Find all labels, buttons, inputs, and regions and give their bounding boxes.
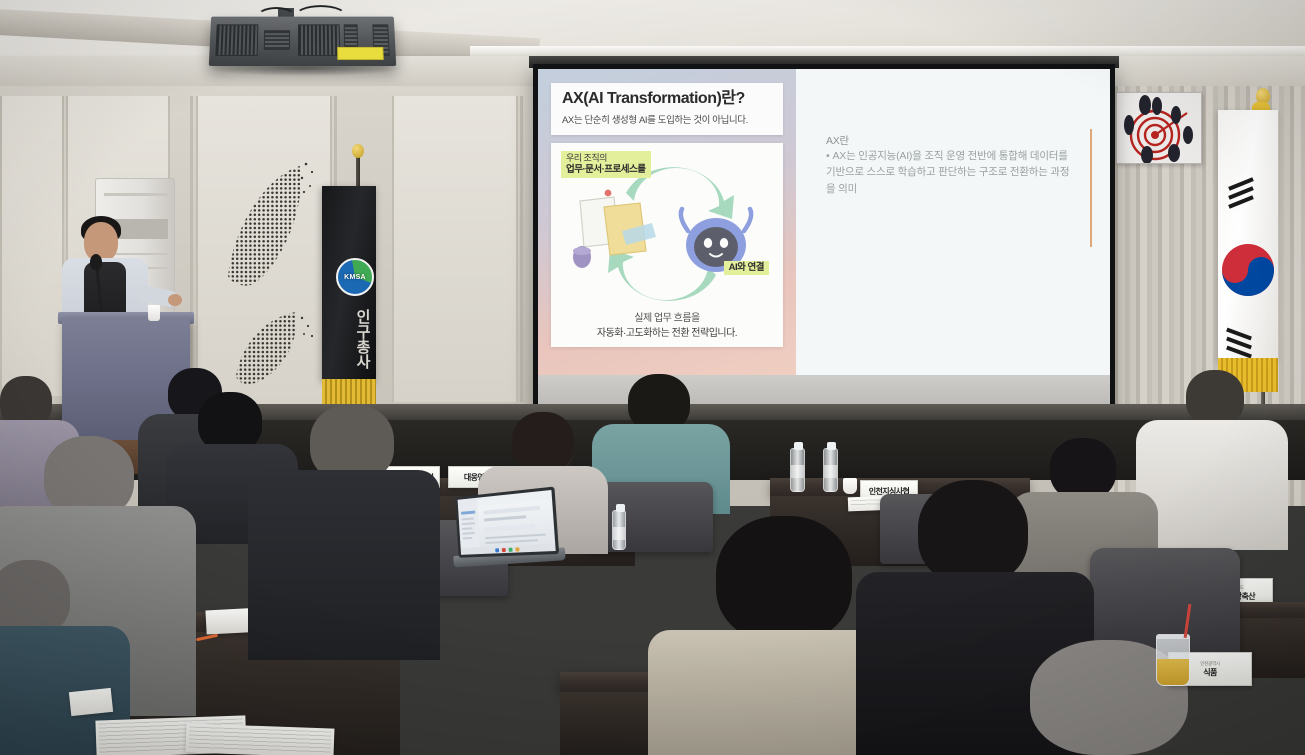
water-bottle <box>823 448 838 492</box>
dotted-leaf-art <box>214 158 324 408</box>
bullet-text: AX는 인공지능(AI)을 조직 운영 전반에 통합해 데이터를 기반으로 스스… <box>826 150 1069 195</box>
podium-cup <box>148 305 160 321</box>
projector-warning-label <box>337 47 384 60</box>
chip-top-line2: 업무·문서·프로세스를 <box>566 164 646 177</box>
kmsa-emblem-text: KMSA <box>344 274 366 281</box>
chip-top-line1: 우리 조직의 <box>566 153 607 163</box>
org-flag-text: 인구총사 <box>330 300 370 378</box>
caption-line1: 실제 업무 흐름을 <box>551 311 783 326</box>
slide-accent-line <box>1090 129 1092 247</box>
microphone-head <box>90 254 102 270</box>
handout <box>186 723 335 755</box>
namecard-name: 식품 <box>1203 667 1217 678</box>
paper-cup <box>843 478 857 494</box>
korean-flag <box>1218 110 1278 360</box>
wall-panel <box>0 96 64 396</box>
scene-root: KMSA 인구총사 AX(AI Transformation)란? AX는 단순… <box>0 0 1305 755</box>
org-flag-finial <box>352 144 364 158</box>
laptop-app-sidebar <box>458 498 481 555</box>
diagram-chip-top: 우리 조직의 업무·문서·프로세스를 <box>561 151 651 178</box>
target-bullseye-poster <box>1116 92 1202 164</box>
slide-diagram: 우리 조직의 업무·문서·프로세스를 AI와 연결 실제 업무 흐름을 자동화·… <box>551 143 783 347</box>
presentation-slide: AX(AI Transformation)란? AX는 단순히 생성형 AI를 … <box>538 69 1110 385</box>
bullet-marker: • <box>826 150 829 162</box>
handout <box>69 688 113 716</box>
water-bottle <box>612 510 626 550</box>
slide-right-panel: AX란 •AX는 인공지능(AI)을 조직 운영 전반에 통합해 데이터를 기반… <box>796 69 1110 385</box>
ceiling-edge <box>470 46 1305 56</box>
kmsa-emblem: KMSA <box>336 258 374 296</box>
org-flag-fringe <box>322 379 376 405</box>
slide-subtitle: AX는 단순히 생성형 AI를 도입하는 것이 아닙니다. <box>562 112 772 126</box>
ceiling-projector <box>209 17 396 66</box>
slide-left-panel: AX(AI Transformation)란? AX는 단순히 생성형 AI를 … <box>538 69 796 385</box>
wall-panel <box>392 96 518 402</box>
diagram-caption: 실제 업무 흐름을 자동화·고도화하는 전환 전략입니다. <box>551 311 783 341</box>
diagram-chip-ai: AI와 연결 <box>724 261 769 276</box>
caption-line2: 자동화·고도화하는 전환 전략입니다. <box>551 326 783 341</box>
speaker-head <box>84 222 118 262</box>
iced-drink-cup <box>1156 634 1190 686</box>
laptop-screen[interactable] <box>455 486 559 557</box>
projection-screen: AX(AI Transformation)란? AX는 단순히 생성형 AI를 … <box>533 64 1115 416</box>
speaker-hand <box>168 294 182 306</box>
right-bullet-block: •AX는 인공지능(AI)을 조직 운영 전반에 통합해 데이터를 기반으로 스… <box>826 148 1076 197</box>
right-heading: AX란 <box>826 133 849 148</box>
water-bottle <box>790 448 805 492</box>
slide-title: AX(AI Transformation)란? <box>562 90 772 108</box>
slide-title-box: AX(AI Transformation)란? AX는 단순히 생성형 AI를 … <box>551 83 783 135</box>
